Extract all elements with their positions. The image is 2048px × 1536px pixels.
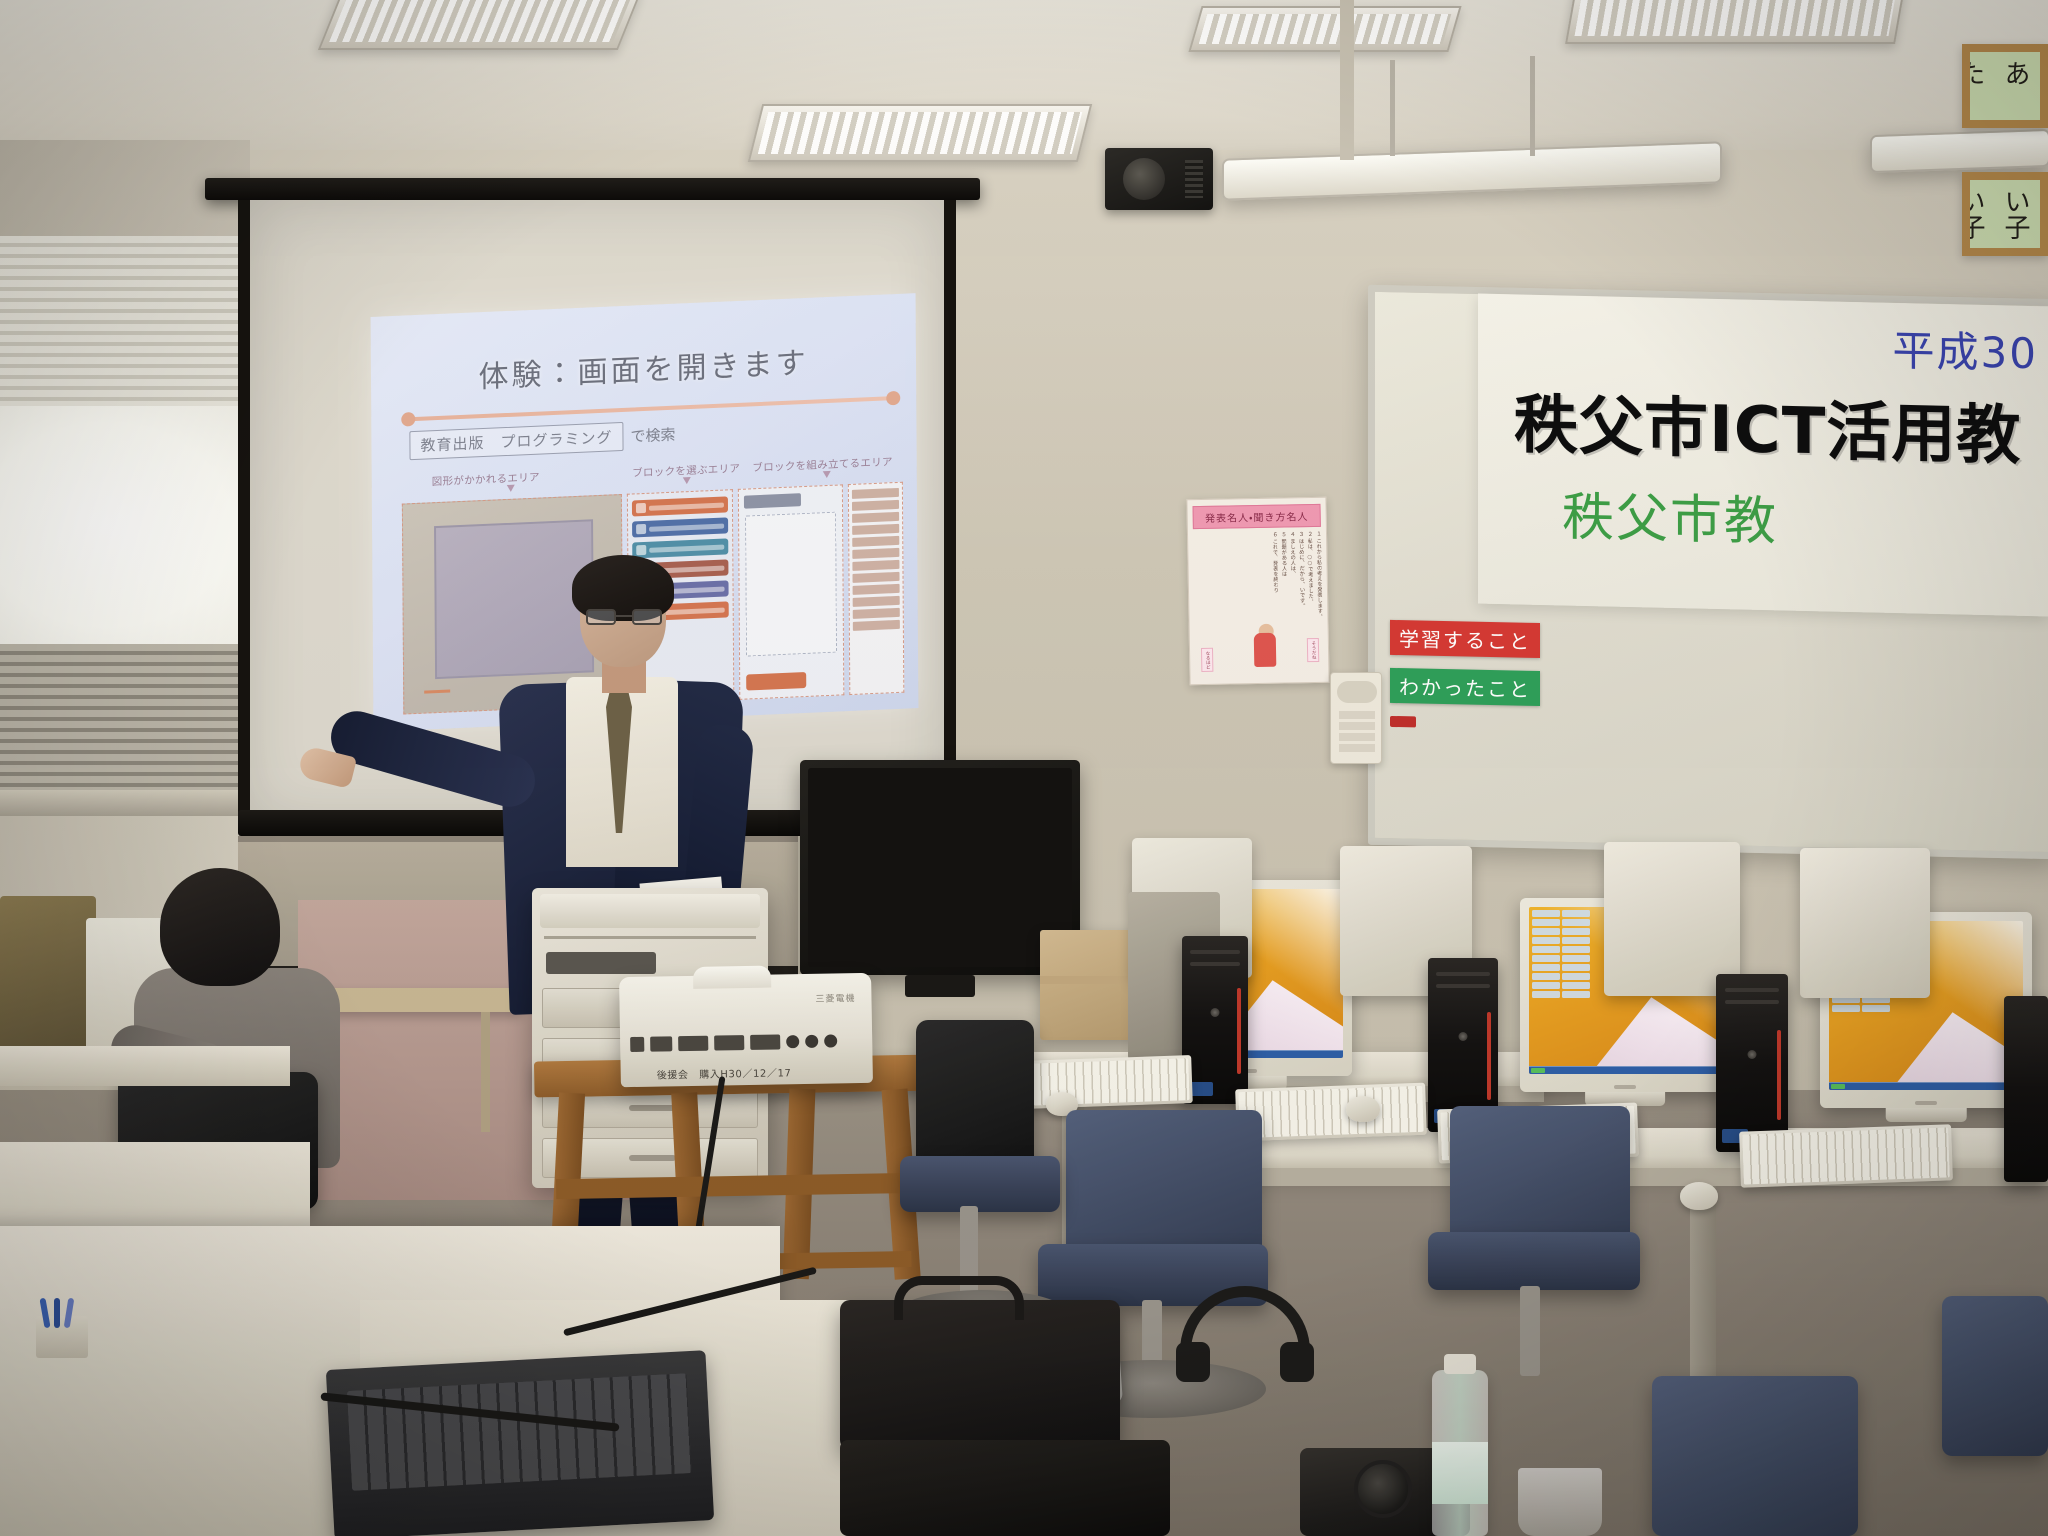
light-suspension-rod: [1530, 56, 1535, 156]
mouse[interactable]: [1346, 1096, 1380, 1122]
display-monitor-stand: [905, 975, 975, 997]
slide-search-suffix: で検索: [630, 424, 675, 447]
ceiling-light-fixture: [748, 104, 1092, 162]
green-sign-char: い子: [1962, 188, 1989, 240]
window: [0, 236, 268, 796]
ceiling-light-fixture: [1188, 6, 1461, 52]
student-chair-back[interactable]: [1652, 1376, 1858, 1536]
ceiling-conduit: [1340, 0, 1354, 160]
poster-line: ６ これで、発表を終わり: [1270, 532, 1278, 628]
student-monitor-rear: [1604, 842, 1740, 996]
eyeglasses: [586, 609, 662, 625]
ceiling-free-projector: 三菱電機 後援会 購入H30／12／17: [619, 973, 873, 1087]
slide-divider-rule: [407, 396, 894, 421]
whiteboard-label-group: 学習すること わかったこと: [1390, 620, 1590, 731]
banner-main-title: 秩父市ICT活用教: [1514, 373, 2038, 477]
wall-speaker: [1105, 148, 1213, 210]
student-chair-seat[interactable]: [1428, 1232, 1640, 1290]
green-sign-char: い子: [1997, 188, 2034, 240]
windows-taskbar: [1529, 1066, 1721, 1074]
window-blind-lower: [0, 644, 268, 796]
poster-line: ２ 私は、○○で考えました。: [1305, 531, 1313, 627]
pendant-tube-light: [1870, 129, 2048, 173]
black-case: [840, 1440, 1170, 1536]
slide-arrow-canvas: [507, 485, 515, 492]
whiteboard-magnet: [1390, 716, 1416, 728]
teacher-chair-seat[interactable]: [900, 1156, 1060, 1212]
slide-arrow-assemble: [823, 471, 831, 478]
banner-subtitle: 秩父市教: [1562, 474, 2038, 560]
slide-search-instruction: 教育出版 プログラミング で検索: [409, 420, 675, 461]
poster-text-columns: １ これから私の考えを発表します。 ２ 私は、○○で考えました。 ３ はじめに、…: [1193, 531, 1323, 629]
wall-telephone[interactable]: [1330, 672, 1382, 764]
headset: [1180, 1286, 1310, 1396]
poster-line: ４ ましえの人は、: [1288, 531, 1296, 627]
slide-area-label-canvas: 図形がかかれるエリア: [432, 470, 540, 490]
laptop-keyboard[interactable]: [326, 1350, 714, 1536]
desktop-pc-tower: [2004, 996, 2048, 1182]
green-framed-sign-upper: あ た: [1962, 44, 2048, 128]
poster-illustration: なるほど そうだね: [1195, 630, 1324, 676]
poster-line: １ これから私の考えを発表します。: [1314, 531, 1322, 627]
plastic-cup: [1518, 1468, 1602, 1536]
projection-screen-housing: [205, 178, 980, 200]
student-hair: [160, 868, 280, 986]
windows-taskbar: [1829, 1082, 2023, 1090]
whiteboard-label-study: 学習すること: [1390, 620, 1540, 658]
desk-leg: [1690, 1186, 1716, 1386]
keyboard[interactable]: [1739, 1124, 1953, 1187]
slide-arrow-palette: [682, 477, 690, 484]
keyboard[interactable]: [1235, 1083, 1427, 1142]
window-daylight: [0, 396, 268, 656]
left-desk: [0, 1046, 290, 1086]
poster-title: 発表名人・聞き方名人: [1193, 504, 1321, 529]
classroom-poster: 発表名人・聞き方名人 １ これから私の考えを発表します。 ２ 私は、○○で考えま…: [1186, 497, 1329, 685]
chair-post: [1520, 1286, 1540, 1376]
mouse[interactable]: [1680, 1182, 1718, 1210]
banner-year: 平成30: [1504, 308, 2038, 381]
mock-side-strip: [848, 482, 905, 695]
projector-brand-mark: 三菱電機: [815, 991, 855, 1005]
whiteboard-label-understood: わかったこと: [1390, 668, 1540, 706]
slide-title: 体験：画面を開きます: [371, 333, 916, 401]
water-bottle: [1432, 1370, 1488, 1536]
event-banner: 平成30 秩父市ICT活用教 秩父市教: [1478, 294, 2048, 617]
student-chair-back[interactable]: [1942, 1296, 2048, 1456]
window-blind-upper: [0, 236, 268, 406]
green-framed-sign-lower: い子 い子: [1962, 172, 2048, 256]
classroom-photo: 体験：画面を開きます 教育出版 プログラミング で検索 図形がかかれるエリア ブ…: [0, 0, 2048, 1536]
slide-search-query: 教育出版 プログラミング: [409, 422, 623, 460]
black-shoulder-bag: [840, 1300, 1120, 1450]
projector-port-row: [630, 1029, 862, 1055]
poster-bubble: なるほど: [1201, 648, 1213, 673]
green-sign-char: た: [1962, 60, 1989, 112]
light-suspension-rod: [1390, 60, 1395, 156]
large-display-monitor: [800, 760, 1080, 975]
poster-line: ５ 問題がある人は: [1279, 532, 1287, 628]
poster-bubble: そうだね: [1307, 638, 1319, 663]
left-student-monitor: [0, 896, 96, 1060]
pen-holder: [36, 1316, 88, 1358]
green-sign-char: あ: [1997, 60, 2034, 112]
ceiling-light-fixture: [318, 0, 642, 50]
desktop-pc-tower: [1716, 974, 1788, 1152]
student-monitor-rear: [1800, 848, 1930, 998]
poster-line: ３ はじめに、だから、いです。: [1297, 531, 1305, 627]
ceiling-light-fixture: [1565, 0, 1905, 44]
